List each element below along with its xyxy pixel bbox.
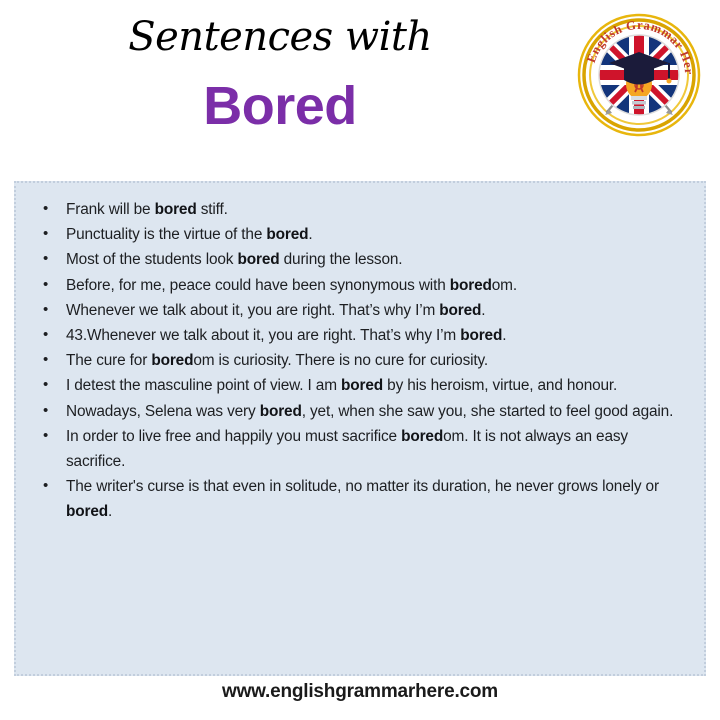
sentence-text: Whenever we talk about it, you are right… (66, 302, 439, 319)
sentences-panel: Frank will be bored stiff.Punctuality is… (14, 181, 706, 676)
keyword-bored: bored (260, 403, 302, 420)
sentence-text: The cure for (66, 352, 151, 369)
sentence-text: Punctuality is the virtue of the (66, 226, 266, 243)
sentence-text: during the lesson. (280, 251, 403, 268)
keyword-bored: bored (66, 503, 108, 520)
list-item: Most of the students look bored during t… (34, 247, 688, 272)
list-item: The writer's curse is that even in solit… (34, 474, 688, 524)
page-header: Sentences with Bored (0, 0, 720, 172)
list-item: Nowadays, Selena was very bored, yet, wh… (34, 399, 688, 424)
list-item: 43.Whenever we talk about it, you are ri… (34, 323, 688, 348)
sentence-text: The writer's curse is that even in solit… (66, 478, 659, 495)
keyword-bored: bored (151, 352, 193, 369)
sentence-text: by his heroism, virtue, and honour. (383, 377, 617, 394)
sentence-text: In order to live free and happily you mu… (66, 428, 401, 445)
list-item: In order to live free and happily you mu… (34, 424, 688, 474)
keyword-bored: bored (401, 428, 443, 445)
page-title-prefix: Sentences with (0, 14, 560, 60)
sentence-text: stiff. (197, 201, 228, 218)
sentence-text: . (108, 503, 112, 520)
page-title: Bored (0, 74, 560, 139)
sentence-list: Frank will be bored stiff.Punctuality is… (34, 197, 688, 525)
site-logo[interactable]: English Grammar Here .Com (576, 12, 702, 138)
sentence-text: . (308, 226, 312, 243)
sentence-text: . (502, 327, 506, 344)
sentence-text: . (481, 302, 485, 319)
keyword-bored: bored (266, 226, 308, 243)
list-item: Frank will be bored stiff. (34, 197, 688, 222)
sentence-text: Before, for me, peace could have been sy… (66, 277, 450, 294)
list-item: Punctuality is the virtue of the bored. (34, 222, 688, 247)
keyword-bored: bored (450, 277, 492, 294)
sentence-text: Most of the students look (66, 251, 237, 268)
list-item: The cure for boredom is curiosity. There… (34, 348, 688, 373)
list-item: Before, for me, peace could have been sy… (34, 273, 688, 298)
sentence-text: I detest the masculine point of view. I … (66, 377, 341, 394)
sentence-text: 43.Whenever we talk about it, you are ri… (66, 327, 460, 344)
sentence-text: Frank will be (66, 201, 155, 218)
list-item: Whenever we talk about it, you are right… (34, 298, 688, 323)
sentence-text: , yet, when she saw you, she started to … (302, 403, 673, 420)
sentence-text: Nowadays, Selena was very (66, 403, 260, 420)
keyword-bored: bored (341, 377, 383, 394)
sentence-text: om is curiosity. There is no cure for cu… (193, 352, 488, 369)
keyword-bored: bored (155, 201, 197, 218)
keyword-bored: bored (237, 251, 279, 268)
sentence-text: om. (492, 277, 517, 294)
keyword-bored: bored (460, 327, 502, 344)
list-item: I detest the masculine point of view. I … (34, 373, 688, 398)
keyword-bored: bored (439, 302, 481, 319)
title-block: Sentences with Bored (0, 0, 560, 139)
footer-url[interactable]: www.englishgrammarhere.com (0, 681, 720, 703)
